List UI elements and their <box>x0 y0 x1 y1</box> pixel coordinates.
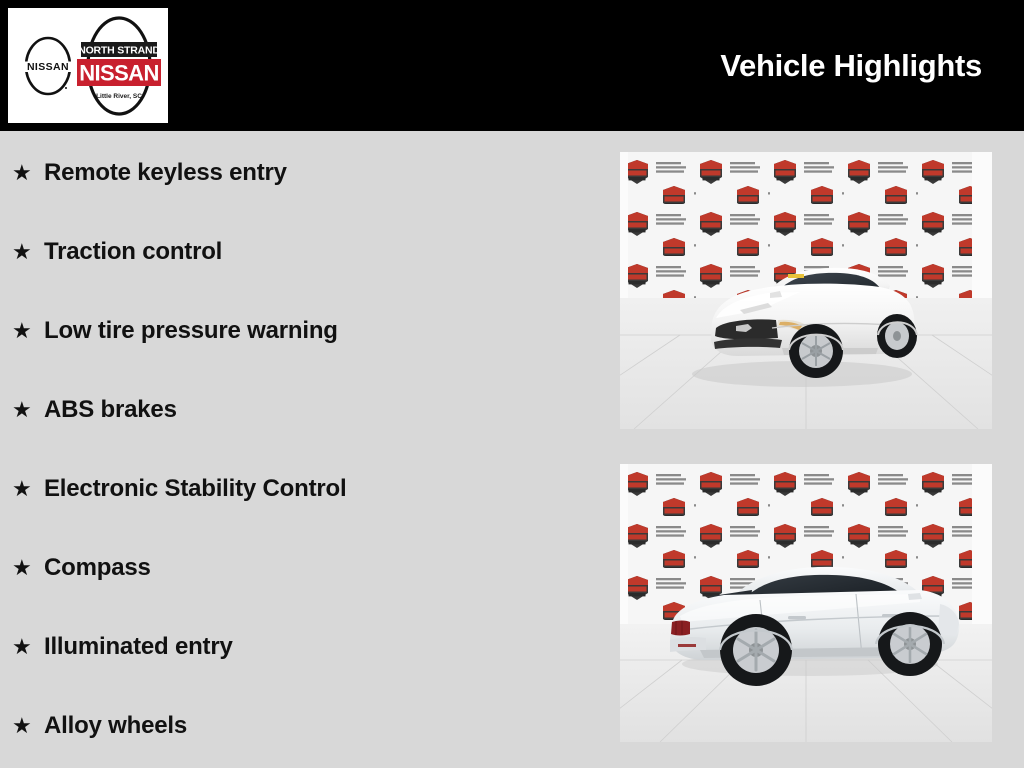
vehicle-photo-front-three-quarter[interactable] <box>620 152 992 429</box>
list-item-label: Low tire pressure warning <box>44 317 338 345</box>
svg-text:Little River, SC: Little River, SC <box>96 93 142 100</box>
star-bullet-icon: ★ <box>12 715 44 737</box>
list-item: ★ Compass <box>0 554 600 633</box>
star-bullet-icon: ★ <box>12 162 44 184</box>
list-item: ★ Alloy wheels <box>0 712 600 768</box>
dealer-logo[interactable]: NISSAN NORTH STRAND NISSAN Little River,… <box>8 8 168 123</box>
vehicle-highlights-list: ★ Remote keyless entry ★ Traction contro… <box>0 131 600 768</box>
north-strand-nissan-badge-icon: NORTH STRAND NISSAN Little River, SC <box>75 14 163 118</box>
list-item-label: Remote keyless entry <box>44 159 287 187</box>
header-bar: NISSAN NORTH STRAND NISSAN Little River,… <box>0 0 1024 131</box>
list-item: ★ Electronic Stability Control <box>0 475 600 554</box>
nissan-emblem-icon: NISSAN <box>22 36 74 96</box>
list-item: ★ Illuminated entry <box>0 633 600 712</box>
list-item-label: Electronic Stability Control <box>44 475 346 503</box>
svg-text:NISSAN: NISSAN <box>27 61 69 73</box>
svg-text:NORTH STRAND: NORTH STRAND <box>78 44 160 56</box>
star-bullet-icon: ★ <box>12 399 44 421</box>
list-item: ★ Traction control <box>0 238 600 317</box>
star-bullet-icon: ★ <box>12 241 44 263</box>
list-item-label: Illuminated entry <box>44 633 233 661</box>
list-item-label: Alloy wheels <box>44 712 187 740</box>
list-item: ★ Remote keyless entry <box>0 159 600 238</box>
list-item: ★ Low tire pressure warning <box>0 317 600 396</box>
star-bullet-icon: ★ <box>12 636 44 658</box>
vehicle-photo-rear-three-quarter[interactable] <box>620 464 992 742</box>
page-title: Vehicle Highlights <box>720 48 982 84</box>
star-bullet-icon: ★ <box>12 478 44 500</box>
star-bullet-icon: ★ <box>12 320 44 342</box>
star-bullet-icon: ★ <box>12 557 44 579</box>
list-item: ★ ABS brakes <box>0 396 600 475</box>
list-item-label: Compass <box>44 554 151 582</box>
list-item-label: ABS brakes <box>44 396 177 424</box>
list-item-label: Traction control <box>44 238 222 266</box>
svg-text:NISSAN: NISSAN <box>79 60 159 85</box>
